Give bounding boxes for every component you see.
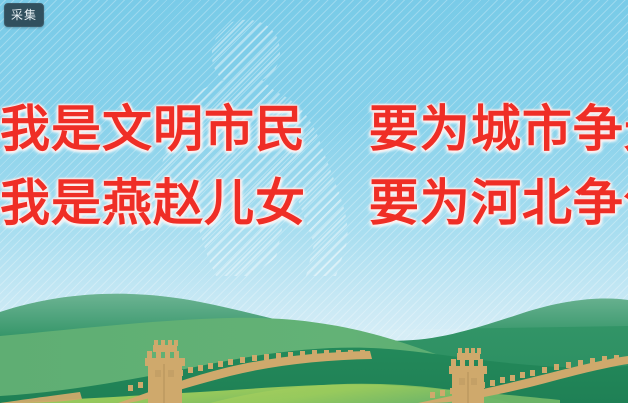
slogan-line-2: 我是燕赵儿女 要为河北争气 <box>0 166 628 240</box>
slogan-line-1-right: 要为城市争光 <box>369 92 628 166</box>
slogan-line-2-right: 要为河北争气 <box>369 166 628 240</box>
slogan-line-1: 我是文明市民 要为城市争光 <box>0 92 628 166</box>
slogan-line-2-left: 我是燕赵儿女 <box>0 166 306 240</box>
slogan-block: 我是文明市民 要为城市争光 我是燕赵儿女 要为河北争气 <box>0 92 628 240</box>
promotional-banner: 我是文明市民 要为城市争光 我是燕赵儿女 要为河北争气 采集 <box>0 0 628 403</box>
slogan-line-1-left: 我是文明市民 <box>0 92 306 166</box>
capture-button[interactable]: 采集 <box>4 3 44 27</box>
